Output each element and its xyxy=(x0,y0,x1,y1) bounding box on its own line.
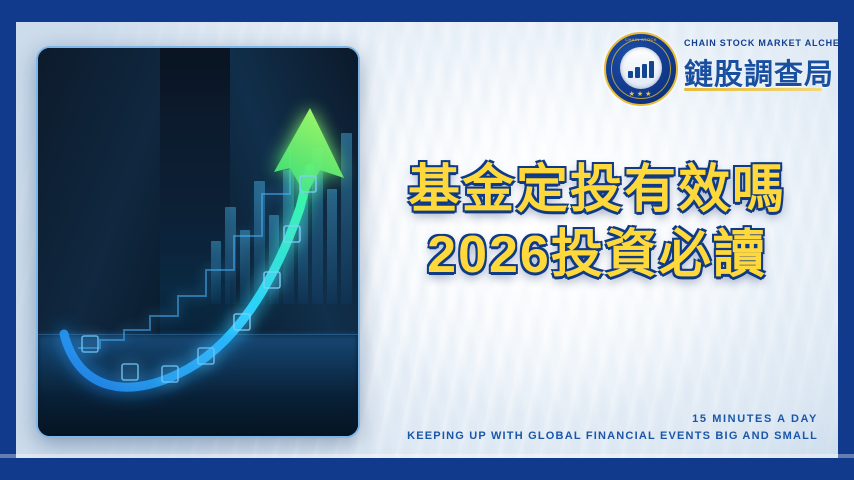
thumbnail-image-card xyxy=(36,46,360,438)
headline-line-2: 2026投資必讀 xyxy=(382,225,812,286)
logo-arc-text: CHAIN STOCK xyxy=(606,37,676,42)
frame-border-right xyxy=(838,0,854,480)
logo-emblem-icon: CHAIN STOCK ★★★ xyxy=(604,32,678,106)
video-thumbnail-canvas: CHAIN STOCK ★★★ CHAIN STOCK MARKET ALCHE… xyxy=(0,0,854,480)
frame-border-top xyxy=(0,0,854,22)
brand-logo: CHAIN STOCK ★★★ CHAIN STOCK MARKET ALCHE… xyxy=(604,32,824,104)
frame-border-left xyxy=(0,0,16,480)
logo-underline xyxy=(684,88,822,91)
frame-border-bottom xyxy=(0,458,854,480)
frame-bottom-accent-line xyxy=(0,454,854,458)
headline-line-1: 基金定投有效嗎 xyxy=(382,160,812,221)
logo-chinese-name: 鏈股調查局 xyxy=(684,51,834,93)
logo-english-name: CHAIN STOCK MARKET ALCHEMY xyxy=(684,38,854,48)
tagline-line-1: 15 MINUTES A DAY xyxy=(407,413,818,425)
tagline-block: 15 MINUTES A DAY KEEPING UP WITH GLOBAL … xyxy=(407,413,818,442)
logo-stars: ★★★ xyxy=(606,90,676,98)
logo-chart-icon xyxy=(628,60,654,78)
headline-block: 基金定投有效嗎 2026投資必讀 xyxy=(382,160,812,287)
card-scene-background xyxy=(38,48,358,436)
scene-floor-reflection xyxy=(38,335,358,436)
tagline-line-2: KEEPING UP WITH GLOBAL FINANCIAL EVENTS … xyxy=(407,430,818,442)
